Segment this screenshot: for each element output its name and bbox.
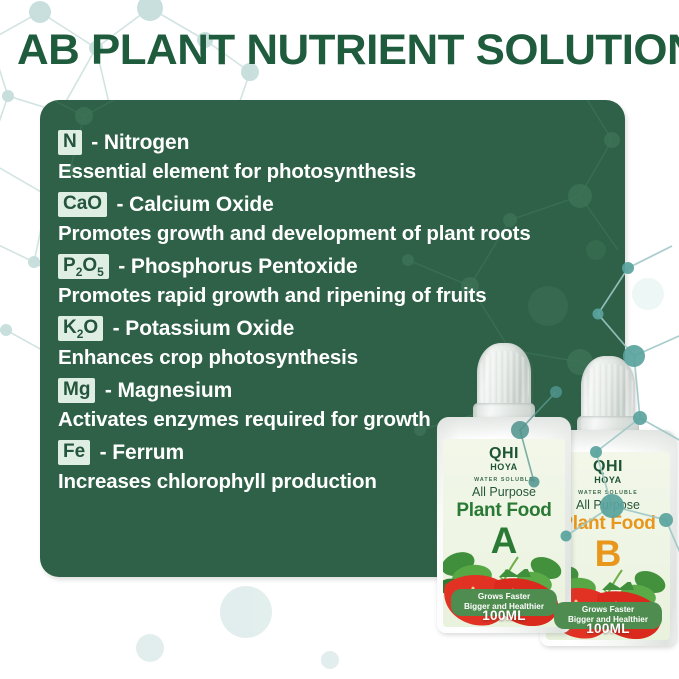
brand-logo-top: QHI bbox=[443, 446, 565, 462]
bottle-volume: 100ML bbox=[546, 621, 670, 636]
plant-food-text: Plant Food bbox=[443, 500, 565, 522]
bottle-label-a: QHI HOYA WATER SOLUBLE All Purpose Plant… bbox=[443, 439, 565, 627]
nutrient-symbol-badge: P2O5 bbox=[58, 254, 109, 279]
nutrient-name: - Potassium Oxide bbox=[113, 316, 295, 342]
nutrient-description: Promotes rapid growth and ripening of fr… bbox=[58, 282, 618, 309]
nutrient-name: - Ferrum bbox=[100, 440, 184, 466]
water-soluble-text: WATER SOLUBLE bbox=[443, 477, 565, 483]
brand-logo: QHI HOYA bbox=[443, 446, 565, 472]
nutrient-description: Essential element for photosynthesis bbox=[58, 158, 618, 185]
nutrient-heading: CaO - Calcium Oxide bbox=[58, 192, 618, 218]
list-item: P2O5 - Phosphorus Pentoxide Promotes rap… bbox=[58, 254, 618, 309]
nutrient-heading: P2O5 - Phosphorus Pentoxide bbox=[58, 254, 618, 280]
brand-logo-bottom: HOYA bbox=[443, 463, 565, 472]
bottle-volume: 100ML bbox=[443, 608, 565, 623]
nutrient-symbol-badge: CaO bbox=[58, 192, 107, 217]
cap-ridges bbox=[583, 364, 633, 424]
nutrient-name: - Magnesium bbox=[105, 378, 232, 404]
list-item: N - Nitrogen Essential element for photo… bbox=[58, 130, 618, 185]
nutrient-name: - Calcium Oxide bbox=[117, 192, 274, 218]
cap-ridges bbox=[479, 351, 529, 411]
claim-line-1: Grows Faster bbox=[554, 605, 662, 615]
nutrient-symbol-badge: Mg bbox=[58, 378, 95, 403]
nutrient-symbol-badge: N bbox=[58, 130, 82, 155]
nutrient-symbol-badge: Fe bbox=[58, 440, 90, 465]
all-purpose-text: All Purpose bbox=[443, 485, 565, 499]
nutrient-name: - Phosphorus Pentoxide bbox=[118, 254, 357, 280]
product-bottle-a[interactable]: QHI HOYA WATER SOLUBLE All Purpose Plant… bbox=[437, 343, 571, 635]
claim-line-1: Grows Faster bbox=[451, 592, 557, 602]
bottle-body: QHI HOYA WATER SOLUBLE All Purpose Plant… bbox=[437, 417, 571, 633]
page-title: AB PLANT NUTRIENT SOLUTION bbox=[17, 22, 679, 78]
bottle-shoulder bbox=[437, 417, 571, 439]
nutrient-description: Promotes growth and development of plant… bbox=[58, 220, 618, 247]
infographic-canvas: AB PLANT NUTRIENT SOLUTION bbox=[0, 0, 679, 679]
list-item: CaO - Calcium Oxide Promotes growth and … bbox=[58, 192, 618, 247]
nutrient-name: - Nitrogen bbox=[91, 130, 189, 156]
nutrient-heading: K2O - Potassium Oxide bbox=[58, 316, 618, 342]
nutrient-heading: N - Nitrogen bbox=[58, 130, 618, 156]
nutrient-symbol-badge: K2O bbox=[58, 316, 103, 341]
